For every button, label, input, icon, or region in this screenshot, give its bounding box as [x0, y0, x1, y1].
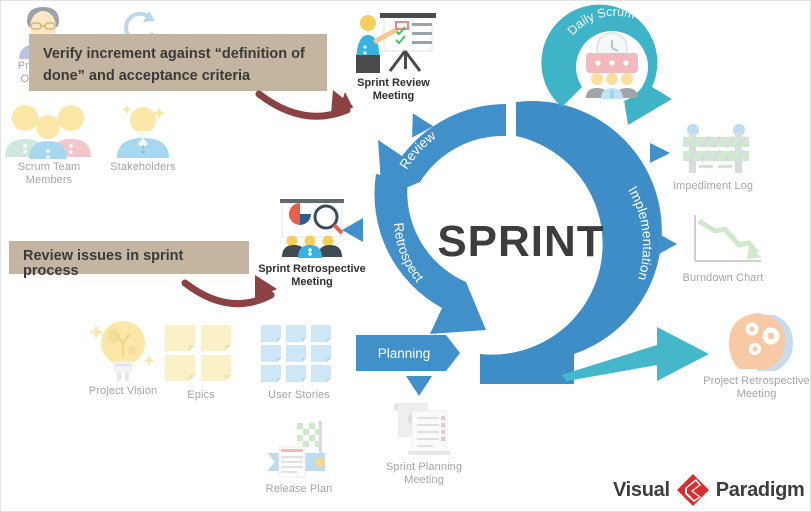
- node-label: Release Plan: [253, 483, 345, 496]
- node-label: Stakeholders: [101, 161, 185, 174]
- node-label: Project Vision: [79, 385, 167, 398]
- node-project-vision[interactable]: Project Vision: [79, 317, 167, 407]
- lightbulb-person-icon: [101, 101, 185, 159]
- head-gears-icon: [717, 311, 797, 373]
- lightbulb-icon: [83, 317, 163, 383]
- node-burndown-chart[interactable]: Burndown Chart: [673, 211, 773, 291]
- node-label: Burndown Chart: [673, 272, 773, 285]
- node-stakeholders[interactable]: Stakeholders: [101, 101, 185, 181]
- sticky-notes-yellow-icon: [163, 323, 235, 383]
- vp-diamond-icon: [676, 473, 710, 507]
- arc-label-daily-scrum: Daily Scrum: [565, 5, 637, 38]
- callout-verify-increment: Verify increment against “definition of …: [29, 34, 327, 91]
- callout-arrow-review-issues: [179, 273, 289, 319]
- node-label: Impediment Log: [663, 180, 763, 193]
- callout-review-issues: Review issues in sprint process: [9, 241, 249, 274]
- brand-second-word: Paradigm: [716, 479, 805, 502]
- sprint-center-label: SPRINT: [437, 217, 604, 266]
- planning-chevron: Planning: [356, 332, 461, 374]
- barrier-icon: [671, 123, 771, 179]
- node-sprint-planning-meeting[interactable]: Sprint Planning Meeting: [379, 397, 469, 489]
- people-group-icon: [0, 101, 99, 159]
- visual-paradigm-logo: Visual Paradigm: [613, 473, 805, 507]
- arc-label-daily-scrum-wrap: Daily Scrum: [524, 3, 704, 63]
- presentation-icon: [346, 11, 441, 73]
- node-scrum-team-members[interactable]: Scrum Team Members: [0, 101, 99, 181]
- planning-down-arrow: [404, 375, 434, 397]
- document-list-icon: [384, 397, 464, 459]
- node-impediment-log[interactable]: Impediment Log: [663, 123, 763, 203]
- node-label: Sprint Planning Meeting: [379, 461, 469, 487]
- teal-output-arrow: [561, 327, 711, 383]
- node-label: Project Retrospective Meeting: [701, 375, 811, 401]
- node-label: Epics: [163, 389, 239, 402]
- retrospect-left-arrow: [341, 217, 365, 243]
- brand-first-word: Visual: [613, 479, 670, 502]
- node-epics[interactable]: Epics: [163, 323, 239, 407]
- review-up-arrow: [405, 111, 431, 135]
- node-user-stories[interactable]: User Stories: [259, 323, 339, 407]
- node-project-retrospective-meeting[interactable]: Project Retrospective Meeting: [701, 311, 811, 406]
- node-label: User Stories: [259, 389, 339, 402]
- node-label: Scrum Team Members: [0, 161, 99, 187]
- arc-label-planning: Planning: [378, 346, 431, 361]
- callout-arrow-verify: [253, 86, 363, 132]
- burndown-line-icon: [683, 211, 773, 271]
- checkered-flag-icon: [257, 419, 343, 481]
- node-release-plan[interactable]: Release Plan: [253, 419, 345, 501]
- sticky-notes-blue-icon: [259, 323, 335, 383]
